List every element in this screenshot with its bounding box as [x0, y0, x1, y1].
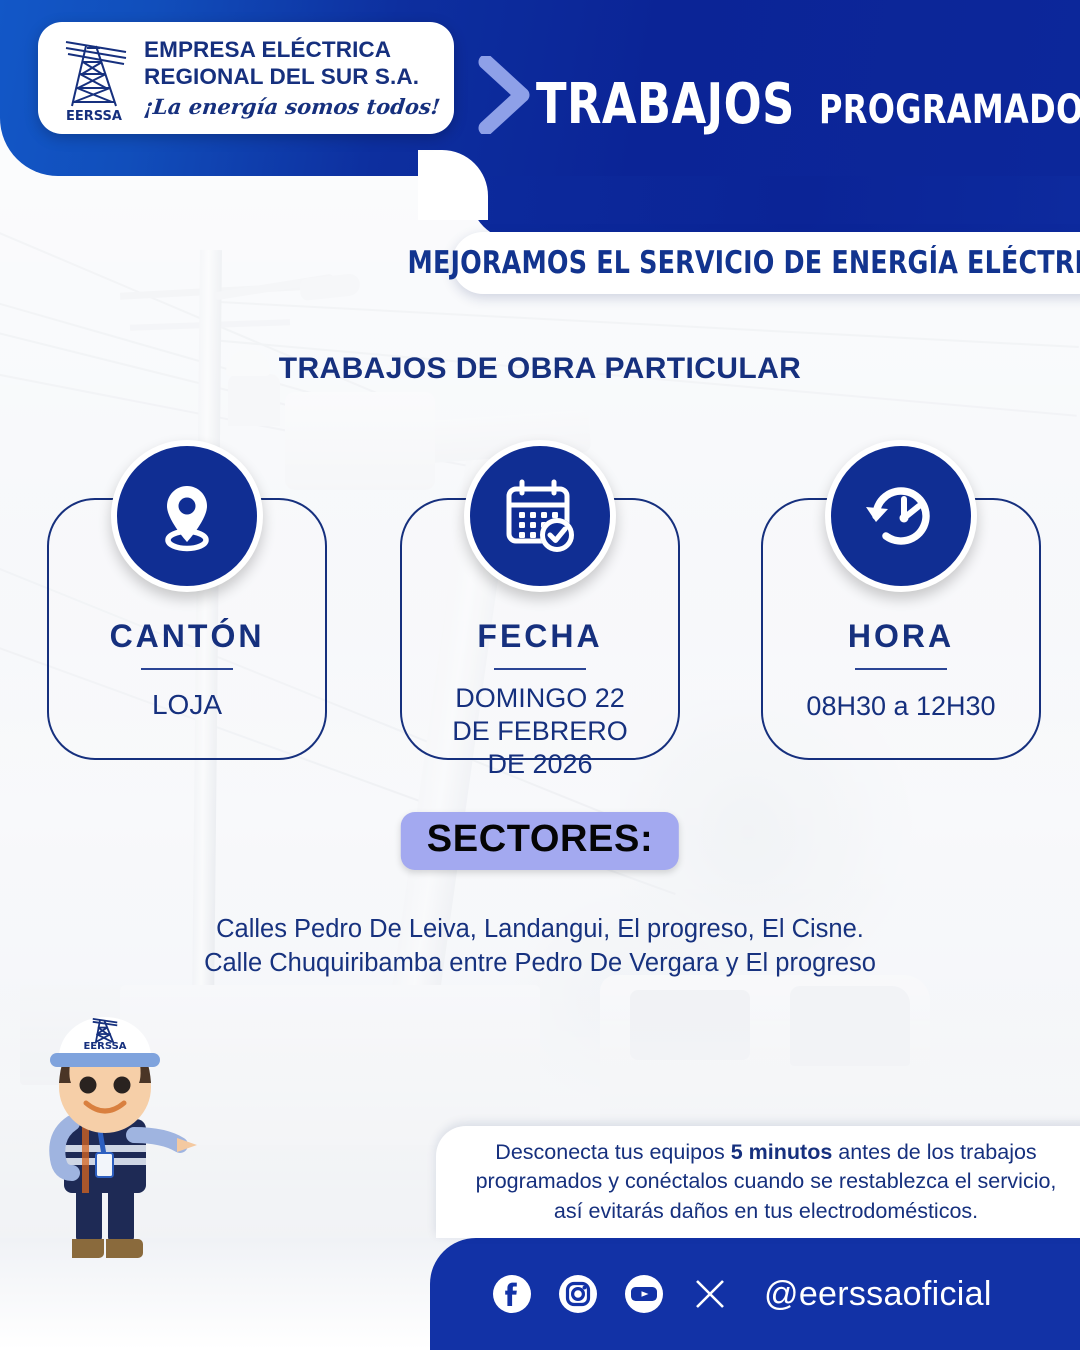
- footer-bar: @eerssaoficial: [430, 1238, 1080, 1350]
- x-twitter-icon[interactable]: [690, 1274, 730, 1314]
- eerssa-logo: EERSSA EMPRESA ELÉCTRICA REGIONAL DEL SU…: [38, 22, 454, 134]
- logo-line-1: EMPRESA ELÉCTRICA: [144, 37, 440, 63]
- card-hora: HORA 08H30 a 12H30: [761, 498, 1041, 760]
- card-fecha-title: FECHA: [402, 618, 678, 655]
- card-fecha-value: DOMINGO 22 DE FEBRERO DE 2026: [402, 682, 678, 781]
- social-handle[interactable]: @eerssaoficial: [764, 1275, 992, 1314]
- mascot-helmet-text: EERSSA: [83, 1041, 126, 1052]
- page-title: TRABAJOS PROGRAMADOS: [536, 72, 1080, 137]
- transmission-tower-icon: EERSSA: [56, 32, 132, 124]
- chevron-right-icon: [476, 56, 532, 134]
- eerssa-worker-mascot: EERSSA: [14, 995, 204, 1270]
- title-main: TRABAJOS: [536, 72, 795, 137]
- card-hora-title: HORA: [763, 618, 1039, 655]
- poster-root: EERSSA EMPRESA ELÉCTRICA REGIONAL DEL SU…: [0, 0, 1080, 1350]
- card-canton-title: CANTÓN: [49, 618, 325, 655]
- notice-bold: 5 minutos: [731, 1140, 833, 1164]
- title-sub: PROGRAMADOS: [819, 87, 1080, 133]
- section-heading: TRABAJOS DE OBRA PARTICULAR: [0, 352, 1080, 386]
- calendar-check-icon: [497, 473, 583, 559]
- clock-restore-icon: [858, 473, 944, 559]
- subtitle-text: MEJORAMOS EL SERVICIO DE ENERGÍA ELÉCTRI…: [407, 245, 1080, 281]
- sectores-list: Calles Pedro De Leiva, Landangui, El pro…: [0, 912, 1080, 981]
- subtitle-banner: MEJORAMOS EL SERVICIO DE ENERGÍA ELÉCTRI…: [452, 232, 1080, 294]
- notice-part-1: Desconecta tus equipos: [495, 1140, 730, 1164]
- card-fecha: FECHA DOMINGO 22 DE FEBRERO DE 2026: [400, 498, 680, 760]
- notice-text: Desconecta tus equipos 5 minutos antes d…: [436, 1138, 1080, 1227]
- location-pin-icon: [145, 474, 229, 558]
- card-hora-rule: [855, 668, 947, 670]
- instagram-icon[interactable]: [558, 1274, 598, 1314]
- card-hora-value: 08H30 a 12H30: [763, 690, 1039, 723]
- logo-slogan: ¡La energía somos todos!: [143, 94, 442, 119]
- card-fecha-rule: [494, 668, 586, 670]
- sectores-line-1: Calles Pedro De Leiva, Landangui, El pro…: [90, 912, 990, 946]
- card-canton-rule: [141, 668, 233, 670]
- youtube-icon[interactable]: [624, 1274, 664, 1314]
- svg-text:EERSSA: EERSSA: [66, 109, 122, 124]
- card-canton: CANTÓN LOJA: [47, 498, 327, 760]
- facebook-icon[interactable]: [492, 1274, 532, 1314]
- card-hora-badge: [825, 440, 977, 592]
- card-canton-badge: [111, 440, 263, 592]
- notice-box: Desconecta tus equipos 5 minutos antes d…: [436, 1126, 1080, 1238]
- info-cards: CANTÓN LOJA: [0, 498, 1080, 766]
- card-canton-value: LOJA: [49, 688, 325, 722]
- card-fecha-badge: [464, 440, 616, 592]
- logo-line-2: REGIONAL DEL SUR S.A.: [144, 64, 440, 90]
- sectores-label-text: SECTORES:: [427, 818, 653, 860]
- sectores-line-2: Calle Chuquiribamba entre Pedro De Verga…: [90, 946, 990, 980]
- sectores-label: SECTORES:: [401, 812, 679, 870]
